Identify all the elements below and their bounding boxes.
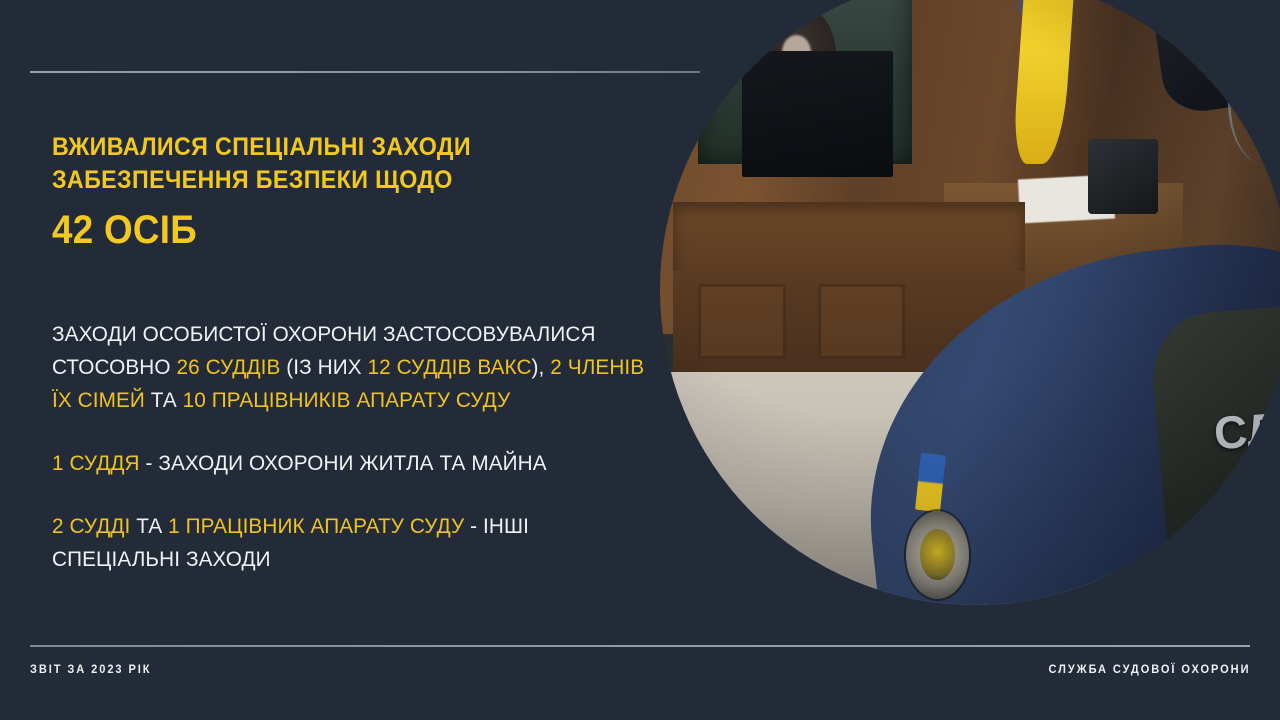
- paragraph-other-special-measures: 2 СУДДІ ТА 1 ПРАЦІВНИК АПАРАТУ СУДУ - ІН…: [52, 510, 650, 576]
- paragraph-home-property-protection: 1 СУДДЯ - ЗАХОДИ ОХОРОНИ ЖИТЛА ТА МАЙНА: [52, 447, 650, 480]
- p1-segment-5: ),: [532, 355, 551, 379]
- headline-block: ВЖИВАЛИСЯ СПЕЦІАЛЬНІ ЗАХОДИ ЗАБЕЗПЕЧЕННЯ…: [52, 131, 652, 252]
- p2-segment-2: - ЗАХОДИ ОХОРОНИ ЖИТЛА ТА МАЙНА: [140, 451, 547, 475]
- p1-segment-7: ТА: [145, 388, 183, 412]
- photo-canvas: СЛУ: [660, 0, 1280, 605]
- headline-line-1: ВЖИВАЛИСЯ СПЕЦІАЛЬНІ ЗАХОДИ: [52, 131, 610, 164]
- footer-report-year: ЗВІТ ЗА 2023 РІК: [30, 662, 151, 676]
- p1-highlight-10-court-staff: 10 ПРАЦІВНИКІВ АПАРАТУ СУДУ: [183, 388, 511, 412]
- headline-line-2: ЗАБЕЗПЕЧЕННЯ БЕЗПЕКИ ЩОДО: [52, 164, 610, 197]
- p3-segment-2: ТА: [130, 514, 168, 538]
- p1-highlight-12-hacc-judges: 12 СУДДІВ ВАКС: [368, 355, 532, 379]
- paragraph-personal-protection: ЗАХОДИ ОСОБИСТОЇ ОХОРОНИ ЗАСТОСОВУВАЛИСЯ…: [52, 318, 650, 417]
- footer-organization: СЛУЖБА СУДОВОЇ ОХОРОНИ: [1048, 662, 1250, 676]
- courtroom-guard-photo: СЛУ: [660, 0, 1280, 605]
- report-slide: СЛУ ВЖИВАЛИСЯ СПЕЦІАЛЬНІ ЗАХОДИ ЗАБЕЗПЕЧ…: [0, 0, 1280, 720]
- paragraph-gap-2: [52, 480, 672, 510]
- photo-vignette: [660, 0, 1280, 605]
- footer-divider: [30, 645, 1250, 647]
- p1-highlight-26-judges: 26 СУДДІВ: [176, 355, 280, 379]
- top-divider: [30, 71, 700, 73]
- body-copy: ЗАХОДИ ОСОБИСТОЇ ОХОРОНИ ЗАСТОСОВУВАЛИСЯ…: [52, 318, 672, 576]
- headline-figure: 42 ОСІБ: [52, 208, 604, 252]
- paragraph-gap-1: [52, 417, 672, 447]
- p1-segment-3: (ІЗ НИХ: [280, 355, 367, 379]
- p2-highlight-1-judge: 1 СУДДЯ: [52, 451, 140, 475]
- p3-highlight-1-court-staff: 1 ПРАЦІВНИК АПАРАТУ СУДУ: [168, 514, 464, 538]
- p3-highlight-2-judges: 2 СУДДІ: [52, 514, 130, 538]
